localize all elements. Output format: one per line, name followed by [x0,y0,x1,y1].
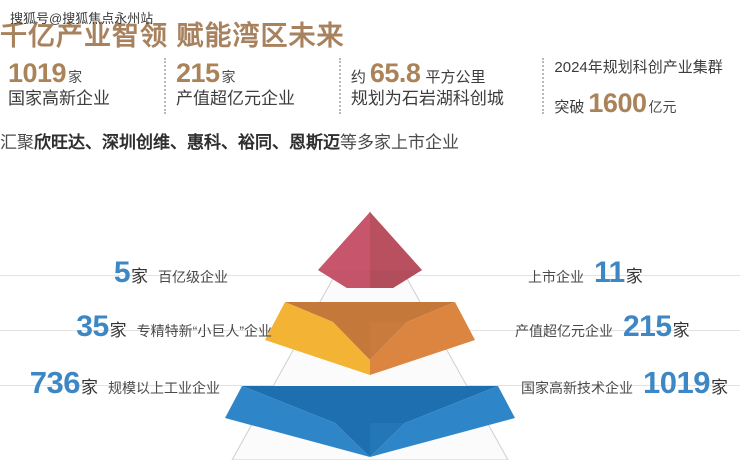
label-text: 专精特新“小巨人”企业 [137,324,272,338]
label-unit: 家 [626,268,643,285]
companies-lead: 汇聚 [0,133,34,152]
label-unit: 家 [110,322,127,339]
stats-strip: 1019 家 国家高新企业 215 家 产值超亿元企业 约 65.8 平方公里 [0,60,740,118]
stat-number: 1019 [8,60,66,87]
stat-description: 产值超亿元企业 [176,90,295,107]
companies-tail: 等多家上市企业 [340,133,459,152]
stat-heading: 2024年规划科创产业集群 [554,60,722,75]
label-number: 736 [30,367,80,398]
stat-card-revenue: 215 家 产值超亿元企业 [164,60,339,118]
label-right-bottom: 国家高新技术企业 1019 家 [521,367,728,398]
stat-card-cluster-2024: 2024年规划科创产业集群 突破 1600 亿元 [542,60,740,118]
pyramid-chart: 5 家 百亿级企业 35 家 专精特新“小巨人”企业 736 家 规模以上工业企… [0,170,740,460]
label-number: 35 [76,312,108,342]
label-text: 百亿级企业 [158,270,228,284]
label-text: 规模以上工业企业 [108,381,220,395]
stat-description: 国家高新企业 [8,90,110,107]
stat-prefix: 突破 [554,100,584,115]
label-unit: 家 [81,379,98,396]
stat-unit: 家 [222,70,236,84]
infographic-page: 搜狐号@搜狐焦点永州站 千亿产业智领 赋能湾区未来 1019 家 国家高新企业 … [0,0,740,460]
stat-number: 1600 [588,90,646,117]
label-text: 国家高新技术企业 [521,381,633,395]
label-unit: 家 [131,268,148,285]
label-right-top: 上市企业 11 家 [528,258,643,288]
stat-description: 规划为石岩湖科创城 [351,90,504,107]
label-left-bottom: 736 家 规模以上工业企业 [0,367,220,398]
stat-card-high-tech: 1019 家 国家高新企业 [0,60,164,118]
label-text: 上市企业 [528,270,584,284]
watermark: 搜狐号@搜狐焦点永州站 [10,8,153,27]
stat-number: 65.8 [370,60,421,87]
stat-unit: 亿元 [648,100,676,114]
label-left-middle: 35 家 专精特新“小巨人”企业 [0,312,272,342]
label-number: 215 [623,312,672,342]
stat-number: 215 [176,60,220,87]
watermark-text: 搜狐号@搜狐焦点永州站 [10,11,153,26]
stat-prefix: 约 [351,70,366,85]
stat-unit: 家 [68,70,82,84]
pyramid-level-top [318,212,422,288]
label-left-top: 5 家 百亿级企业 [0,258,228,288]
stat-card-area: 约 65.8 平方公里 规划为石岩湖科创城 [339,60,543,118]
label-number: 5 [114,258,130,288]
label-unit: 家 [673,322,690,339]
label-text: 产值超亿元企业 [515,324,613,338]
label-number: 11 [594,258,625,288]
label-right-middle: 产值超亿元企业 215 家 [515,312,690,342]
label-unit: 家 [711,379,728,396]
stat-suffix: 平方公里 [425,70,485,85]
companies-line: 汇聚欣旺达、深圳创维、惠科、裕同、恩斯迈等多家上市企业 [0,128,459,153]
companies-names: 欣旺达、深圳创维、惠科、裕同、恩斯迈 [34,133,340,152]
label-number: 1019 [643,367,710,398]
